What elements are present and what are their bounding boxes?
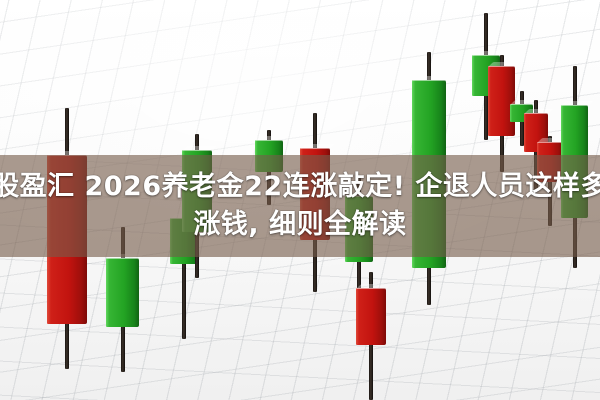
candle-body-down <box>356 288 386 345</box>
candlestick-8 <box>356 272 386 400</box>
chart-thumbnail: 股盈汇 2026养老金22连涨敲定! 企退人员这样多 涨钱, 细则全解读 <box>0 0 600 400</box>
headline-line-2: 涨钱, 细则全解读 <box>193 207 406 243</box>
headline-line-1: 股盈汇 2026养老金22连涨敲定! 企退人员这样多 <box>0 169 600 205</box>
candle-body-up <box>106 258 139 327</box>
headline-text-container: 股盈汇 2026养老金22连涨敲定! 企退人员这样多 涨钱, 细则全解读 <box>0 155 600 257</box>
